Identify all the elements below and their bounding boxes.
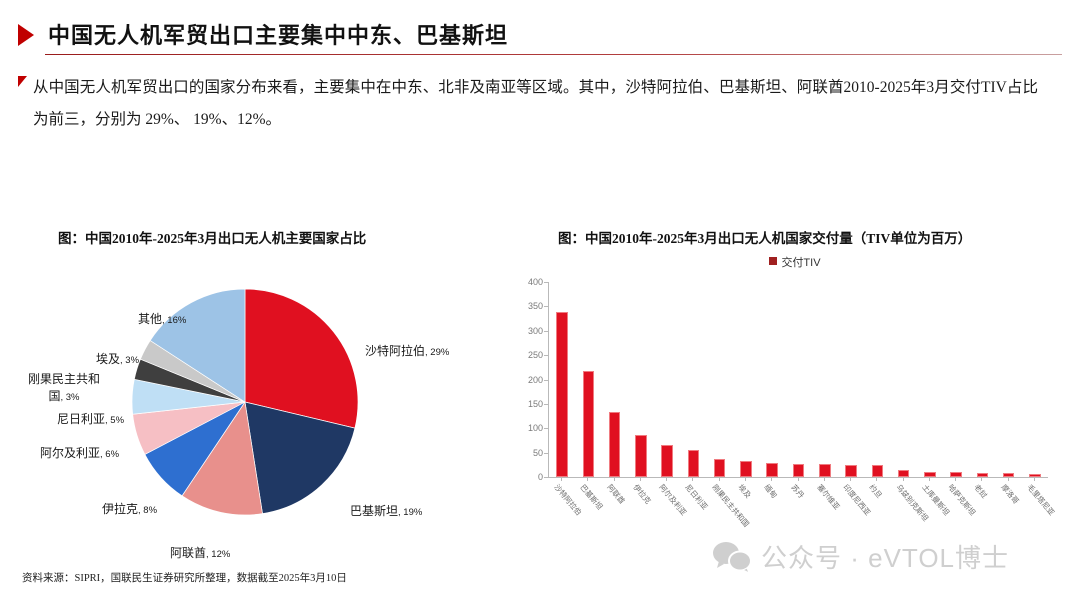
x-axis-tick-mark (850, 477, 851, 481)
x-axis-tick-label: 塞尔维亚 (814, 482, 842, 512)
x-axis-tick-label: 摩洛哥 (998, 482, 1021, 506)
x-axis-tick-label: 伊拉克 (630, 482, 653, 506)
bar (898, 470, 910, 477)
watermark: 公众号 · eVTOL博士 (712, 538, 1009, 575)
x-axis-tick-mark (981, 477, 982, 481)
y-axis-tick-mark (544, 306, 548, 307)
bar (977, 473, 989, 477)
x-axis-tick-label: 老挝 (972, 482, 990, 501)
triangle-right-icon (18, 24, 34, 46)
x-axis-tick-mark (824, 477, 825, 481)
pie-chart-title: 图：中国2010年-2025年3月出口无人机主要国家占比 (58, 227, 366, 247)
x-axis-tick-label: 约旦 (867, 482, 885, 501)
y-axis-tick-label: 0 (538, 472, 543, 482)
bar (793, 464, 805, 477)
bar-chart-title: 图：中国2010年-2025年3月出口无人机国家交付量（TIV单位为百万） (558, 227, 971, 247)
bar-plot-area: 050100150200250300350400 沙特阿拉伯巴基斯坦阿联酋伊拉克… (548, 282, 1063, 547)
bar-chart-panel: 图：中国2010年-2025年3月出口无人机国家交付量（TIV单位为百万） 交付… (520, 222, 1070, 552)
x-axis-tick-label: 毛里塔尼亚 (1024, 482, 1057, 518)
x-axis-tick-mark (561, 477, 562, 481)
bar (819, 464, 831, 477)
x-axis-tick-mark (771, 477, 772, 481)
slide: 中国无人机军贸出口主要集中中东、巴基斯坦 从中国无人机军贸出口的国家分布来看，主… (0, 0, 1080, 604)
x-axis-tick-label: 缅甸 (762, 482, 780, 501)
y-axis-tick-mark (544, 380, 548, 381)
x-axis-tick-mark (798, 477, 799, 481)
bar (872, 465, 884, 477)
y-axis-tick-mark (544, 428, 548, 429)
x-axis-tick-mark (666, 477, 667, 481)
x-axis-tick-mark (745, 477, 746, 481)
bar (845, 465, 857, 477)
pie-chart-area: 沙特阿拉伯, 29%巴基斯坦, 19%阿联酋, 12%伊拉克, 8%阿尔及利亚,… (20, 262, 520, 552)
bar (583, 371, 595, 477)
x-axis-tick-mark (640, 477, 641, 481)
page-title: 中国无人机军贸出口主要集中中东、巴基斯坦 (48, 18, 508, 50)
triangle-bullet-icon (18, 76, 27, 87)
y-axis-tick-mark (544, 282, 548, 283)
pie-slice-label: 伊拉克, 8% (102, 500, 157, 517)
pie-slice-label: 阿尔及利亚, 6% (40, 444, 119, 461)
source-note: 资料来源：SIPRI，国联民生证券研究所整理，数据截至2025年3月10日 (22, 570, 347, 585)
summary-paragraph: 从中国无人机军贸出口的国家分布来看，主要集中在中东、北非及南亚等区域。其中，沙特… (18, 72, 1038, 136)
pie-slice-label: 阿联酋, 12% (170, 544, 230, 561)
bar (661, 445, 673, 477)
x-axis-tick-mark (1034, 477, 1035, 481)
bar-chart-legend: 交付TIV (520, 254, 1070, 270)
pie-slice-label: 沙特阿拉伯, 29% (365, 342, 449, 359)
bar (688, 450, 700, 477)
y-axis-tick-label: 150 (528, 399, 543, 409)
bar (556, 312, 568, 477)
legend-label: 交付TIV (781, 257, 820, 269)
x-axis-tick-mark (587, 477, 588, 481)
pie-svg (20, 262, 520, 552)
bar-group (549, 282, 1048, 477)
y-axis-tick-label: 350 (528, 301, 543, 311)
watermark-text: 公众号 · eVTOL博士 (761, 538, 1009, 575)
wechat-icon (712, 541, 752, 573)
x-axis-tick-label: 阿联酋 (604, 482, 627, 506)
y-axis-tick-label: 200 (528, 375, 543, 385)
x-axis-tick-label: 苏丹 (788, 482, 806, 501)
y-axis-tick-label: 100 (528, 423, 543, 433)
header-divider (45, 54, 1062, 55)
summary-text: 从中国无人机军贸出口的国家分布来看，主要集中在中东、北非及南亚等区域。其中，沙特… (33, 72, 1038, 136)
x-axis-tick-mark (903, 477, 904, 481)
bar (766, 463, 778, 477)
x-axis-tick-mark (614, 477, 615, 481)
x-axis-tick-mark (692, 477, 693, 481)
pie-chart-panel: 图：中国2010年-2025年3月出口无人机主要国家占比 沙特阿拉伯, 29%巴… (20, 222, 520, 552)
pie-slice-label: 巴基斯坦, 19% (350, 502, 422, 519)
x-axis-tick-mark (1008, 477, 1009, 481)
pie-slice-label: 埃及, 3% (96, 350, 139, 367)
slide-header: 中国无人机军贸出口主要集中中东、巴基斯坦 (18, 18, 1062, 64)
y-axis-tick-mark (544, 355, 548, 356)
x-axis-tick-mark (719, 477, 720, 481)
y-axis-tick-label: 300 (528, 326, 543, 336)
y-axis-tick-label: 250 (528, 350, 543, 360)
x-axis-tick-mark (955, 477, 956, 481)
pie-slice-label: 刚果民主共和国, 3% (28, 370, 100, 404)
y-axis-tick-label: 50 (533, 448, 543, 458)
pie-slice-label: 其他, 16% (138, 310, 186, 327)
x-axis-tick-label: 埃及 (736, 482, 754, 501)
bar (714, 459, 726, 477)
y-axis-tick-label: 400 (528, 277, 543, 287)
y-axis-tick-mark (544, 477, 548, 478)
pie-slice-label: 尼日利亚, 5% (57, 410, 124, 427)
y-axis-tick-mark (544, 404, 548, 405)
x-axis-tick-mark (929, 477, 930, 481)
bar (635, 435, 647, 477)
bar (740, 461, 752, 477)
legend-swatch-icon (769, 257, 777, 265)
y-axis-tick-mark (544, 453, 548, 454)
x-axis-tick-mark (876, 477, 877, 481)
y-axis-tick-mark (544, 331, 548, 332)
bar (609, 412, 621, 477)
